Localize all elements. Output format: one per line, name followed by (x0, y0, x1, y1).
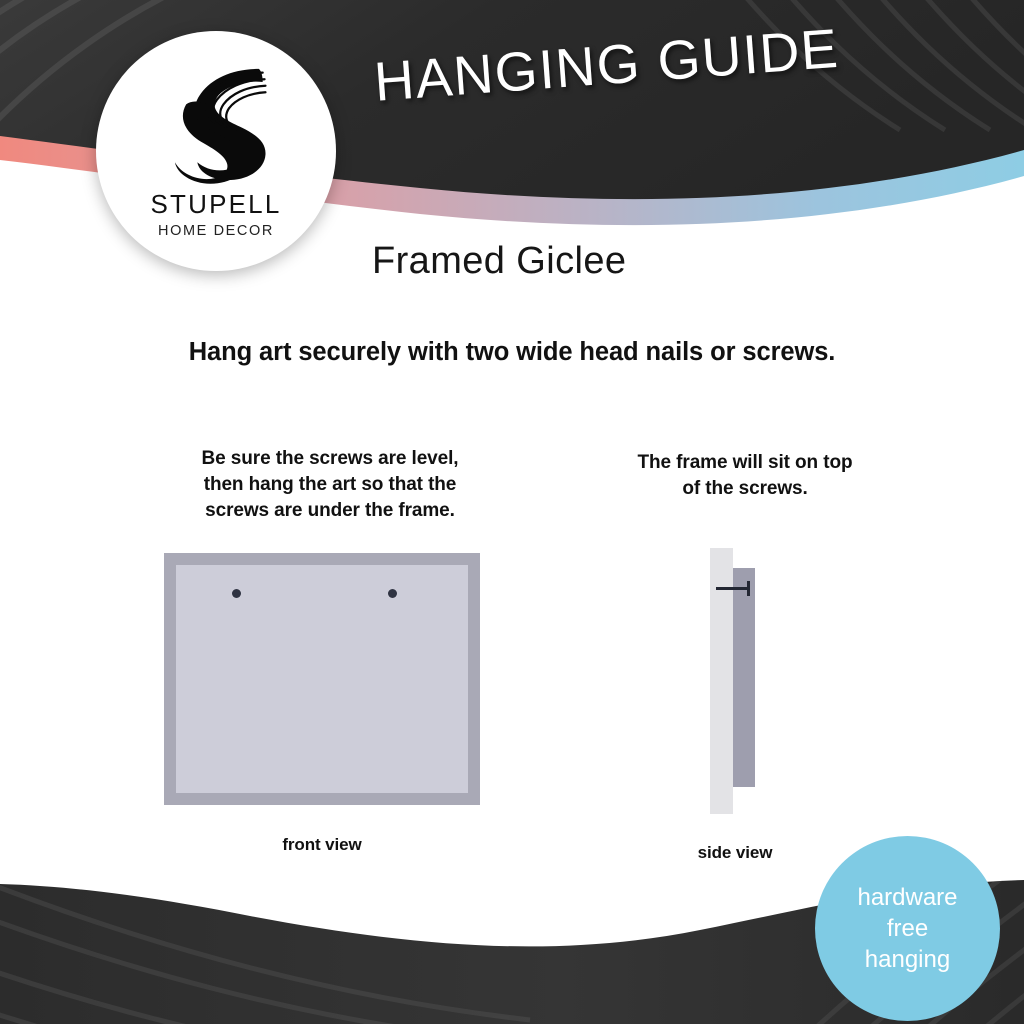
hardware-free-hanging-badge: hardware free hanging (815, 836, 1000, 1021)
front-view-panel: Be sure the screws are level, then hang … (130, 446, 530, 523)
side-view-frame (733, 568, 755, 787)
side-caption-line-2: of the screws. (590, 476, 900, 502)
front-view-frame-diagram (164, 553, 480, 805)
brand-logo-badge: STUPELL HOME DECOR (96, 31, 336, 271)
front-caption-line-3: screws are under the frame. (130, 498, 530, 524)
stupell-s-swoosh-icon (160, 63, 272, 185)
screw-dot-right-icon (388, 589, 397, 598)
side-caption-line-1: The frame will sit on top (590, 450, 900, 476)
brand-wordmark: STUPELL (150, 191, 281, 217)
product-type-title: Framed Giclee (372, 240, 626, 283)
badge-line-3: hanging (865, 944, 950, 975)
primary-instruction: Hang art securely with two wide head nai… (0, 338, 1024, 367)
front-view-caption: Be sure the screws are level, then hang … (130, 446, 530, 523)
side-view-label: side view (640, 843, 830, 863)
nail-shaft-icon (716, 587, 749, 590)
page-title: HANGING GUIDE (372, 12, 895, 114)
screw-dot-left-icon (232, 589, 241, 598)
side-view-caption: The frame will sit on top of the screws. (590, 450, 900, 502)
side-view-panel: The frame will sit on top of the screws. (590, 450, 900, 502)
hanging-guide-page: HANGING GUIDE STUPELL HOME DECOR Framed … (0, 0, 1024, 1024)
front-view-mat (176, 565, 468, 793)
badge-line-2: free (887, 913, 928, 944)
front-view-label: front view (164, 835, 480, 855)
badge-line-1: hardware (857, 882, 957, 913)
nail-head-icon (747, 581, 750, 596)
front-caption-line-2: then hang the art so that the (130, 472, 530, 498)
brand-tagline: HOME DECOR (158, 224, 274, 239)
front-caption-line-1: Be sure the screws are level, (130, 446, 530, 472)
